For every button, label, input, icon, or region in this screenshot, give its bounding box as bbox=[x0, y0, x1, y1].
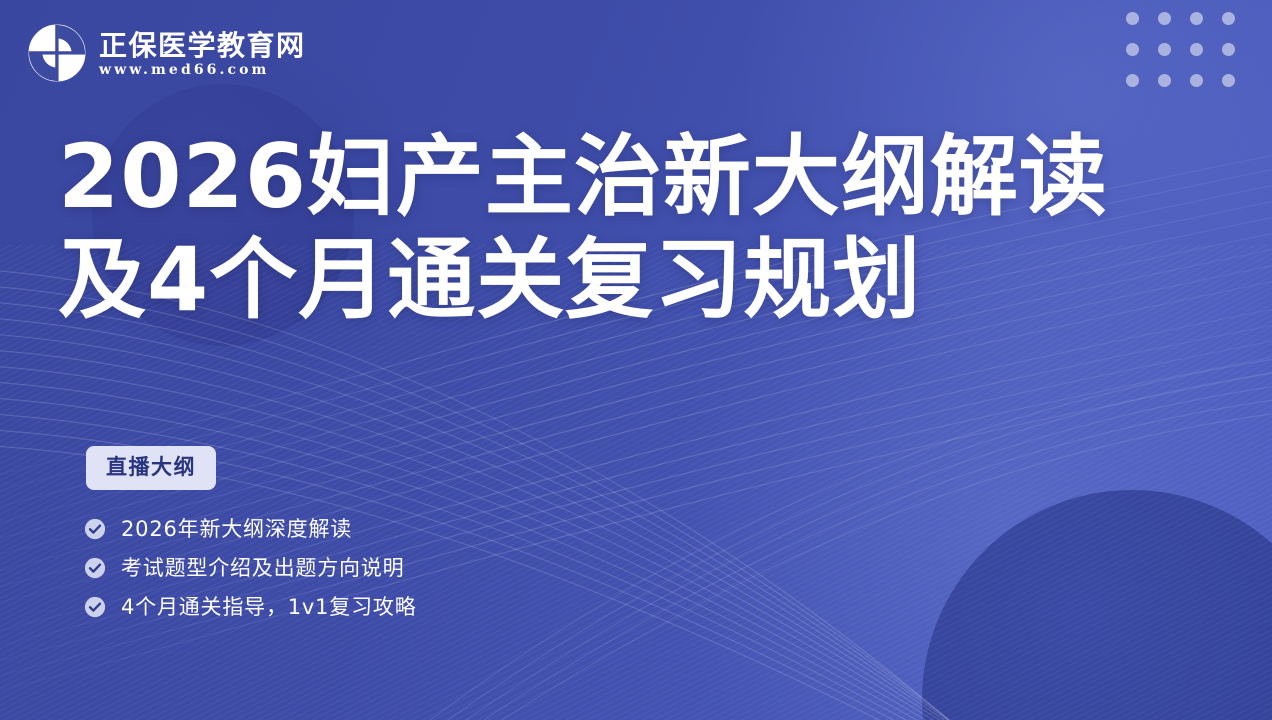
check-circle-icon bbox=[84, 596, 106, 618]
dot bbox=[1158, 74, 1171, 87]
dot bbox=[1158, 43, 1171, 56]
dot bbox=[1222, 43, 1235, 56]
brand-logo[interactable]: 正保医学教育网 www.med66.com bbox=[26, 22, 306, 84]
dot bbox=[1158, 12, 1171, 25]
dark-circle-bottom-right bbox=[922, 490, 1272, 720]
dot bbox=[1190, 43, 1203, 56]
dot-grid-decoration bbox=[1126, 12, 1254, 105]
list-item-label: 考试题型介绍及出题方向说明 bbox=[121, 558, 404, 579]
dot bbox=[1126, 12, 1139, 25]
page-title: 2026妇产主治新大纲解读 及4个月通关复习规划 bbox=[58, 126, 1108, 332]
section-badge: 直播大纲 bbox=[86, 446, 216, 490]
list-item-label: 2026年新大纲深度解读 bbox=[121, 519, 352, 540]
outline-list: 2026年新大纲深度解读 考试题型介绍及出题方向说明 4个月通关指导，1v1复习… bbox=[84, 518, 417, 618]
brand-logo-text: 正保医学教育网 www.med66.com bbox=[99, 29, 306, 76]
medical-cross-circle-logo-icon bbox=[26, 22, 88, 84]
check-circle-icon bbox=[84, 557, 106, 579]
list-item: 2026年新大纲深度解读 bbox=[84, 518, 417, 540]
dot bbox=[1190, 74, 1203, 87]
dot bbox=[1126, 43, 1139, 56]
promo-poster: 正保医学教育网 www.med66.com 2026妇产主治新大纲解读 及4个月… bbox=[0, 0, 1272, 720]
list-item-label: 4个月通关指导，1v1复习攻略 bbox=[121, 597, 417, 618]
list-item: 4个月通关指导，1v1复习攻略 bbox=[84, 596, 417, 618]
brand-name: 正保医学教育网 bbox=[99, 31, 306, 60]
dot bbox=[1190, 12, 1203, 25]
dot bbox=[1222, 74, 1235, 87]
dot bbox=[1126, 74, 1139, 87]
check-circle-icon bbox=[84, 518, 106, 540]
list-item: 考试题型介绍及出题方向说明 bbox=[84, 557, 417, 579]
dot bbox=[1222, 12, 1235, 25]
title-line-2: 及4个月通关复习规划 bbox=[58, 229, 1108, 332]
title-line-1: 2026妇产主治新大纲解读 bbox=[58, 126, 1108, 229]
brand-website: www.med66.com bbox=[99, 63, 306, 77]
